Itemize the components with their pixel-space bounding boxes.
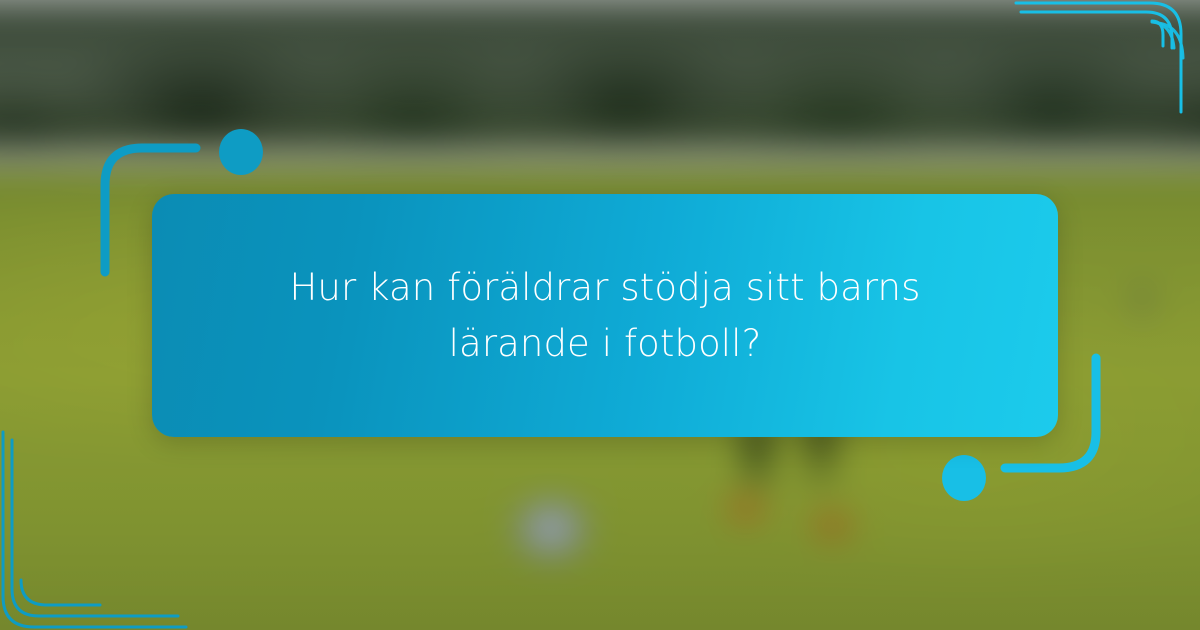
headline-card: Hur kan föräldrar stödja sitt barns lära…: [152, 194, 1058, 437]
social-card-canvas: Hur kan föräldrar stödja sitt barns lära…: [0, 0, 1200, 630]
page-title: Hur kan föräldrar stödja sitt barns lära…: [215, 260, 995, 371]
